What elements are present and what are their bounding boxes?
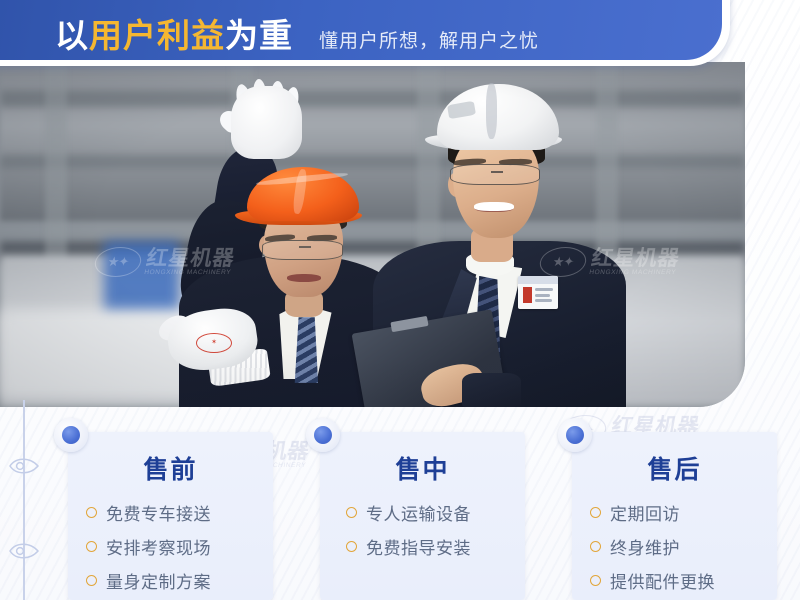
banner-subtitle: 懂用户所想，解用户之忧	[319, 32, 539, 51]
banner-title-suffix: 为重	[225, 17, 293, 54]
card-item-list: 专人运输设备 免费指导安装	[320, 500, 525, 559]
service-card-aftersale[interactable]: 售后 定期回访 终身维护 提供配件更换	[572, 432, 777, 600]
list-item: 量身定制方案	[86, 568, 273, 593]
list-item-label: 免费专车接送	[106, 500, 211, 525]
list-item-label: 量身定制方案	[106, 568, 211, 593]
hero-vignette	[0, 62, 745, 407]
list-item: 终身维护	[590, 534, 777, 559]
banner-title: 以用户利益为重	[55, 19, 293, 52]
card-title: 售后	[572, 450, 777, 486]
card-item-list: 免费专车接送 安排考察现场 量身定制方案	[68, 500, 273, 593]
bullet-circle-icon	[346, 541, 357, 552]
banner-title-highlight: 用户利益	[89, 17, 225, 54]
list-item-label: 提供配件更换	[610, 568, 715, 593]
banner-title-prefix: 以	[55, 17, 89, 54]
bullet-circle-icon	[590, 575, 601, 586]
list-item-label: 定期回访	[610, 500, 680, 525]
bullet-circle-icon	[86, 507, 97, 518]
list-item-label: 专人运输设备	[366, 500, 471, 525]
bullet-circle-icon	[86, 575, 97, 586]
header-banner: 以用户利益为重 懂用户所想，解用户之忧	[0, 0, 722, 60]
list-item: 专人运输设备	[346, 500, 525, 525]
list-item: 定期回访	[590, 500, 777, 525]
bullet-circle-icon	[590, 507, 601, 518]
hero-photo: ✶	[0, 62, 745, 407]
list-item-label: 安排考察现场	[106, 534, 211, 559]
service-card-insale[interactable]: 售中 专人运输设备 免费指导安装	[320, 432, 525, 600]
card-marker-dot-icon	[306, 418, 340, 452]
list-item: 安排考察现场	[86, 534, 273, 559]
card-marker-dot-icon	[558, 418, 592, 452]
bullet-circle-icon	[590, 541, 601, 552]
list-item-label: 免费指导安装	[366, 534, 471, 559]
list-item: 提供配件更换	[590, 568, 777, 593]
service-card-presale[interactable]: 售前 免费专车接送 安排考察现场 量身定制方案	[68, 432, 273, 600]
list-item-label: 终身维护	[610, 534, 680, 559]
service-cards: 售前 免费专车接送 安排考察现场 量身定制方案 售中	[0, 410, 800, 600]
card-title: 售前	[68, 450, 273, 486]
banner-content: 以用户利益为重 懂用户所想，解用户之忧	[55, 19, 539, 52]
promo-poster: ✶	[0, 0, 800, 600]
bullet-circle-icon	[346, 507, 357, 518]
card-item-list: 定期回访 终身维护 提供配件更换	[572, 500, 777, 593]
list-item: 免费指导安装	[346, 534, 525, 559]
bullet-circle-icon	[86, 541, 97, 552]
card-marker-dot-icon	[54, 418, 88, 452]
card-title: 售中	[320, 450, 525, 486]
list-item: 免费专车接送	[86, 500, 273, 525]
hero-scene: ✶	[0, 62, 745, 407]
